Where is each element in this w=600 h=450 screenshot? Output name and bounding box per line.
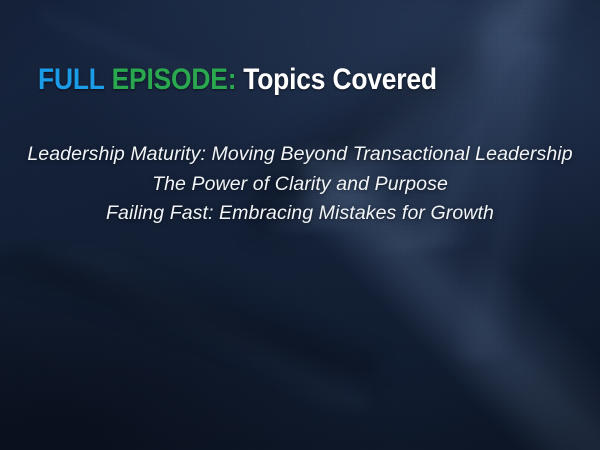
title-segment-full: FULL bbox=[38, 63, 105, 96]
list-item: Leadership Maturity: Moving Beyond Trans… bbox=[26, 140, 574, 170]
title-segment-subject: Topics Covered bbox=[243, 63, 437, 96]
list-item: The Power of Clarity and Purpose bbox=[26, 170, 574, 200]
slide-canvas: FULLEPISODE:Topics Covered Leadership Ma… bbox=[0, 0, 600, 450]
page-title: FULLEPISODE:Topics Covered bbox=[38, 62, 437, 98]
topics-list: Leadership Maturity: Moving Beyond Trans… bbox=[0, 140, 600, 229]
slide-content: FULLEPISODE:Topics Covered Leadership Ma… bbox=[0, 0, 600, 450]
title-segment-episode: EPISODE: bbox=[112, 63, 237, 96]
list-item: Failing Fast: Embracing Mistakes for Gro… bbox=[26, 199, 574, 229]
